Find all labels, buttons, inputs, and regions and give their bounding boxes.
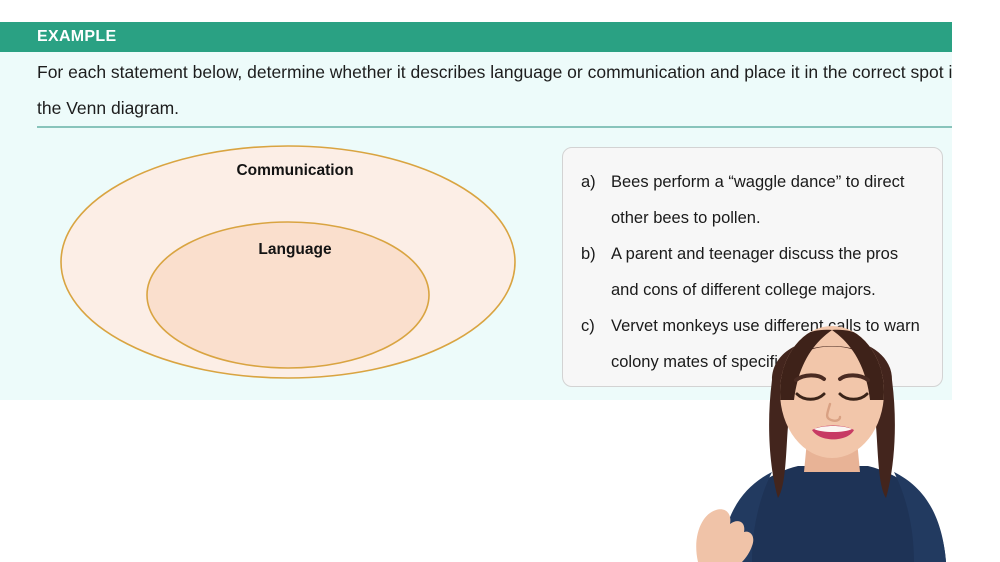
venn-label-language: Language — [45, 241, 535, 259]
list-item-text: Bees perform a “waggle dance” to direct … — [611, 164, 928, 236]
list-item-marker: a) — [581, 164, 611, 200]
section-divider — [37, 126, 975, 128]
example-header-label: EXAMPLE — [37, 28, 116, 46]
right-gutter — [952, 0, 1000, 400]
list-item[interactable]: a) Bees perform a “waggle dance” to dire… — [581, 164, 928, 236]
list-item-text: A parent and teenager discuss the pros a… — [611, 236, 928, 308]
list-item-text: Vervet monkeys use different calls to wa… — [611, 308, 928, 380]
venn-diagram: Communication Language — [45, 140, 535, 395]
statement-list-box: a) Bees perform a “waggle dance” to dire… — [562, 147, 943, 387]
example-header-bar: EXAMPLE — [0, 22, 952, 52]
list-item[interactable]: c) Vervet monkeys use different calls to… — [581, 308, 928, 380]
lower-white-area — [0, 400, 1000, 562]
list-item[interactable]: b) A parent and teenager discuss the pro… — [581, 236, 928, 308]
slide-canvas: EXAMPLE For each statement below, determ… — [0, 0, 1000, 562]
list-item-marker: b) — [581, 236, 611, 272]
venn-label-communication: Communication — [45, 162, 535, 180]
instruction-text: For each statement below, determine whet… — [37, 54, 977, 126]
list-item-marker: c) — [581, 308, 611, 344]
